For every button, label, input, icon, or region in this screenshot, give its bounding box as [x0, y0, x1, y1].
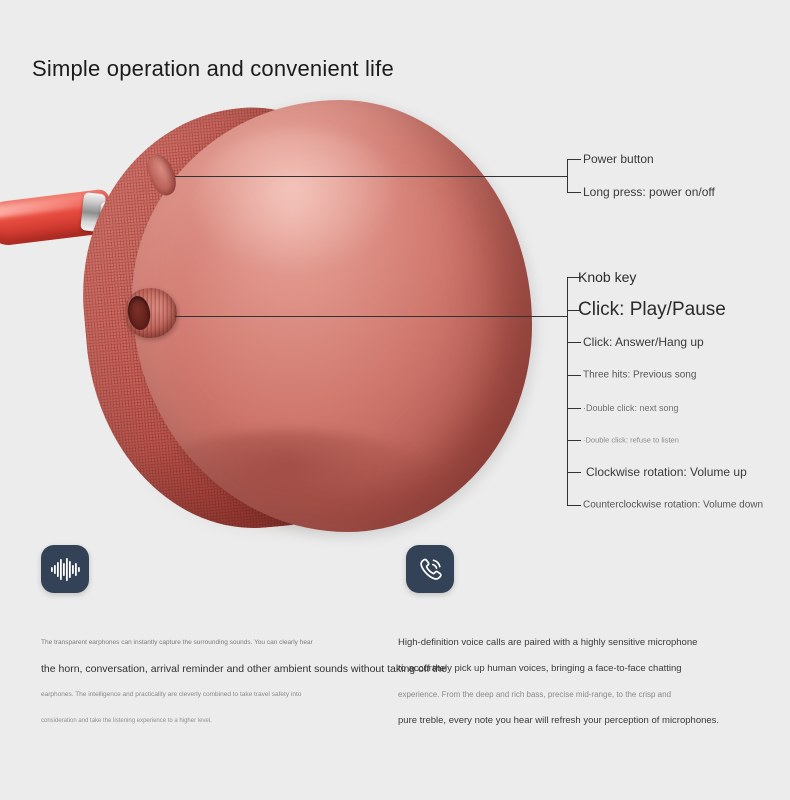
- feature-icon-voice-call: [406, 545, 454, 593]
- power-leader-bracket: [567, 159, 568, 193]
- feature1-line1: The transparent earphones can instantly …: [41, 630, 447, 656]
- callout-click-play-pause: Click: Play/Pause: [578, 299, 726, 321]
- knob-stub-3: [567, 342, 581, 343]
- audio-waveform-icon: [50, 557, 80, 581]
- feature2-line2: to accurately pick up human voices, brin…: [398, 656, 719, 682]
- callout-double-click-refuse: ·Double click: refuse to listen: [583, 436, 679, 445]
- callout-long-press: Long press: power on/off: [583, 185, 715, 199]
- earcup-highlight: [195, 128, 405, 278]
- feature2-line3: experience. From the deep and rich bass,…: [398, 682, 719, 708]
- knob-stub-4: [567, 375, 581, 376]
- power-leader-line: [175, 176, 567, 177]
- earcup-rim-shadow: [138, 430, 438, 540]
- callout-knob-key: Knob key: [578, 269, 636, 285]
- callout-double-click-next: ·Double click: next song: [583, 403, 679, 413]
- knob-stub-8: [567, 505, 581, 506]
- knob-leader-line: [175, 316, 567, 317]
- callout-three-hits-previous: Three hits: Previous song: [583, 370, 696, 381]
- feature2-line1: High-definition voice calls are paired w…: [398, 630, 719, 656]
- knob-stub-5: [567, 408, 581, 409]
- power-stub-1: [567, 159, 581, 160]
- callout-power-button: Power button: [583, 152, 654, 166]
- feature-text-transparency: The transparent earphones can instantly …: [41, 630, 447, 734]
- callout-clockwise-volume-up: Clockwise rotation: Volume up: [586, 465, 747, 479]
- callout-counterclockwise-volume-down: Counterclockwise rotation: Volume down: [583, 500, 763, 511]
- feature-text-voice-call: High-definition voice calls are paired w…: [398, 630, 719, 734]
- feature1-line2: the horn, conversation, arrival reminder…: [41, 656, 447, 682]
- page-title: Simple operation and convenient life: [32, 56, 394, 82]
- feature1-line4: consideration and take the listening exp…: [41, 708, 447, 734]
- product-feature-page: Simple operation and convenient life Pow…: [0, 0, 790, 800]
- knob-stub-6: [567, 440, 581, 441]
- knob-leader-bracket: [567, 277, 568, 505]
- callout-click-answer-hangup: Click: Answer/Hang up: [583, 335, 704, 349]
- feature-icon-transparency: [41, 545, 89, 593]
- phone-call-icon: [416, 555, 444, 583]
- power-stub-2: [567, 192, 581, 193]
- feature2-line4: pure treble, every note you hear will re…: [398, 708, 719, 734]
- feature1-line3: earphones. The intelligence and practica…: [41, 682, 447, 708]
- knob-stub-7: [567, 472, 581, 473]
- product-image: [0, 100, 560, 540]
